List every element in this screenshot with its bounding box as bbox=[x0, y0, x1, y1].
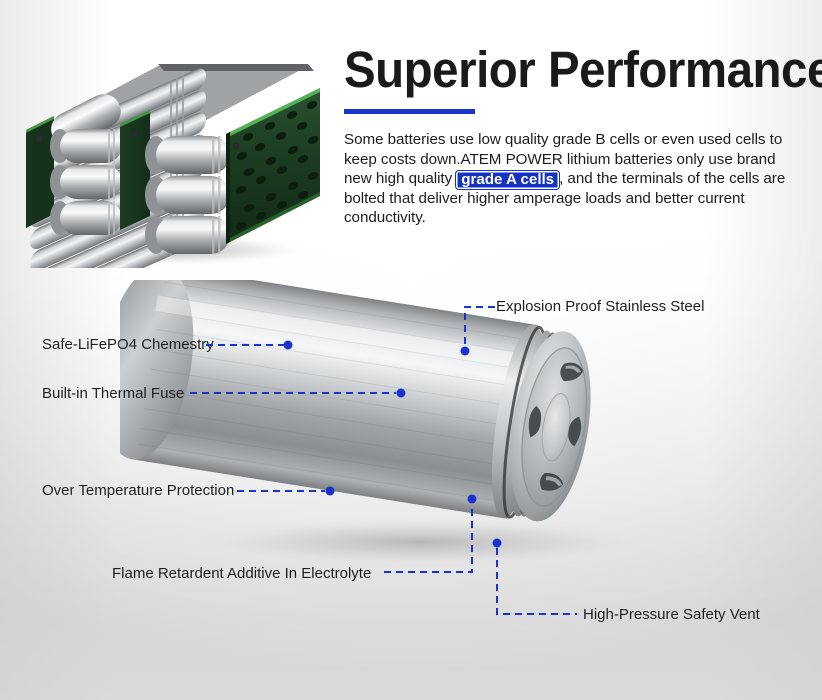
callout-leader-high-pressure-safety-vent bbox=[493, 538, 589, 624]
callout-leader-flame-retardent-additive-in-electrolyte bbox=[384, 490, 494, 586]
callout-label-explosion-proof-stainless-steel: Explosion Proof Stainless Steel bbox=[496, 299, 704, 314]
battery-pack-image bbox=[8, 38, 330, 268]
callout-leader-explosion-proof-stainless-steel bbox=[461, 300, 509, 362]
pcb-plate bbox=[226, 88, 320, 244]
grade-a-cells-badge: grade A cells bbox=[456, 171, 559, 189]
callout-label-high-pressure-safety-vent: High-Pressure Safety Vent bbox=[583, 607, 760, 622]
header-block: Superior Performance Some batteries use … bbox=[344, 42, 796, 228]
callout-leader-safe-lifepo4-chemestry bbox=[206, 336, 298, 356]
title-underline-rule bbox=[344, 109, 475, 114]
infographic-canvas: Safe-LiFePO4 Chemestry Built-in Thermal … bbox=[0, 0, 822, 700]
page-title: Superior Performance bbox=[344, 42, 764, 98]
callout-label-over-temperature-protection: Over Temperature Protection bbox=[42, 483, 234, 498]
callout-label-flame-retardent-additive-in-electrolyte: Flame Retardent Additive In Electrolyte bbox=[112, 566, 371, 581]
callout-leader-over-temperature-protection bbox=[237, 482, 341, 502]
callout-leader-built-in-thermal-fuse bbox=[190, 384, 412, 404]
callout-label-built-in-thermal-fuse: Built-in Thermal Fuse bbox=[42, 386, 184, 401]
description-paragraph: Some batteries use low quality grade B c… bbox=[344, 130, 796, 228]
callout-label-safe-lifepo4-chemestry: Safe-LiFePO4 Chemestry bbox=[42, 337, 214, 352]
